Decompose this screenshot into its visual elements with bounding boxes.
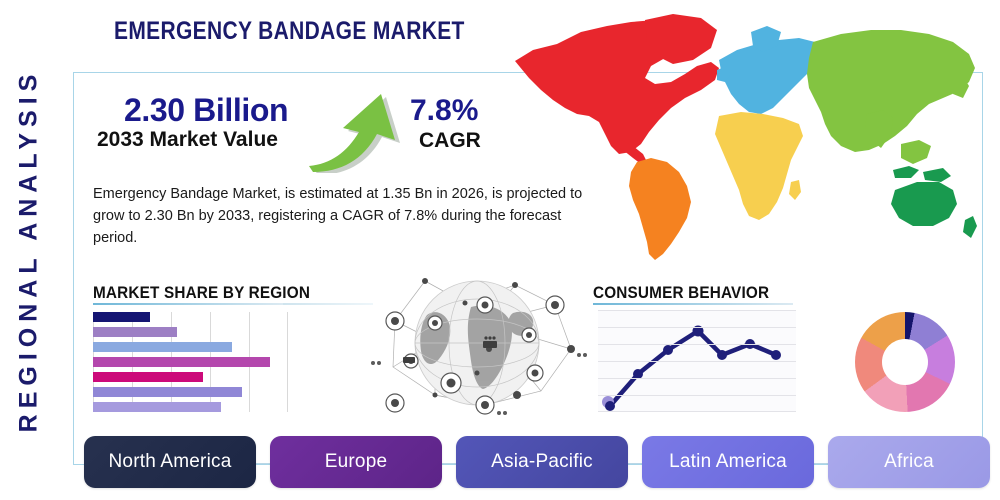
map-region-south-america [629,158,691,260]
market-description: Emergency Bandage Market, is estimated a… [93,183,598,249]
map-region-oceania [891,182,957,226]
hero-stats: 2.30 Billion 2033 Market Value 7.8% CAGR [88,92,508,172]
consumer-behavior-heading: CONSUMER BEHAVIOR [593,283,769,303]
region-button-africa[interactable]: Africa [828,436,990,488]
market-share-heading: MARKET SHARE BY REGION [93,283,310,303]
consumer-behavior-line-chart [598,310,796,412]
growth-arrow-icon [303,88,413,173]
page-title: EMERGENCY BANDAGE MARKET [114,17,465,46]
market-value-number: 2.30 Billion [124,92,288,129]
infographic-root: REGIONAL ANALYSIS EMERGENCY BANDAGE MARK… [0,0,1000,500]
bar-chart-bar [93,402,221,412]
map-region-new-guinea [923,168,951,182]
segment-donut-chart [855,312,955,412]
region-button-label: North America [109,451,232,473]
cagr-label: CAGR [419,129,481,153]
bar-chart-bar [93,372,203,382]
bar-chart-bar [93,327,177,337]
map-region-new-zealand [963,216,977,238]
market-share-heading-rule-tail [283,303,373,305]
bar-chart-bar [93,357,270,367]
map-region-indonesia [893,166,919,178]
donut-center-hole [882,339,928,385]
consumer-behavior-heading-rule [593,303,793,305]
map-region-africa [715,112,803,220]
map-region-madagascar [789,180,801,200]
region-button-europe[interactable]: Europe [270,436,442,488]
bar-chart-bar [93,312,150,322]
region-button-latin-america[interactable]: Latin America [642,436,814,488]
bar-chart-bar [93,387,242,397]
cagr-number: 7.8% [410,94,478,128]
market-share-heading-rule [93,303,283,305]
region-button-label: Asia-Pacific [491,451,593,473]
region-button-label: Europe [325,451,387,473]
region-button-north-america[interactable]: North America [84,436,256,488]
region-button-label: Africa [884,451,934,473]
map-region-southeast-asia [901,140,931,164]
region-button-label: Latin America [669,451,787,473]
global-network-globe-icon [365,263,590,421]
region-button-asia-pacific[interactable]: Asia-Pacific [456,436,628,488]
market-value-caption: 2033 Market Value [97,128,278,152]
market-share-bar-chart [93,312,289,412]
bar-chart-bar [93,342,232,352]
region-button-row: North America Europe Asia-Pacific Latin … [84,436,990,492]
vertical-section-label-text: REGIONAL ANALYSIS [15,68,44,432]
vertical-section-label: REGIONAL ANALYSIS [0,0,60,500]
